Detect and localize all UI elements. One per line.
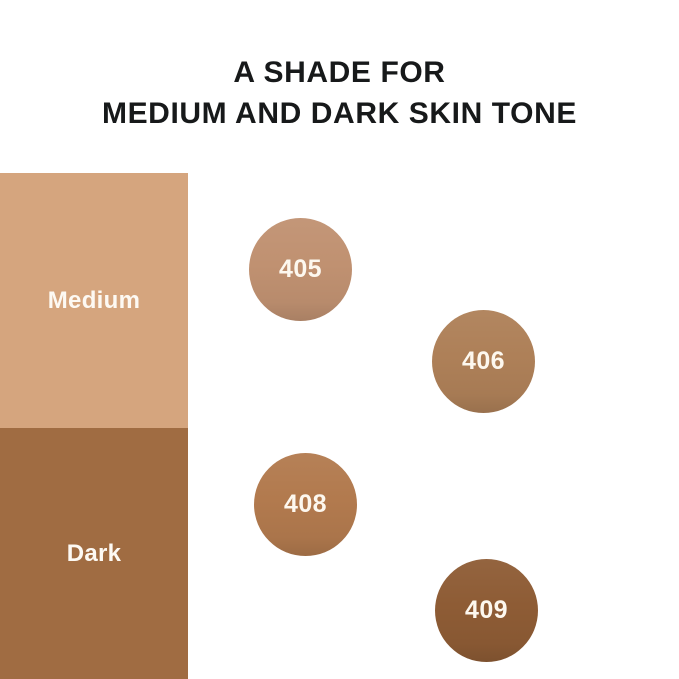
- shade-swatch-409[interactable]: 409: [435, 559, 538, 662]
- tone-panel-medium: Medium: [0, 173, 188, 428]
- tone-panel-medium-label: Medium: [48, 287, 140, 315]
- tone-panel-dark-label: Dark: [67, 540, 122, 568]
- shade-swatch-406[interactable]: 406: [432, 310, 535, 413]
- page-title: A SHADE FOR MEDIUM AND DARK SKIN TONE: [0, 52, 679, 134]
- page-title-line-1: A SHADE FOR: [0, 52, 679, 93]
- shade-chart-canvas: A SHADE FOR MEDIUM AND DARK SKIN TONE Me…: [0, 0, 679, 679]
- shade-swatch-405-label: 405: [279, 255, 322, 284]
- shade-swatch-409-label: 409: [465, 596, 508, 625]
- shade-swatch-406-label: 406: [462, 347, 505, 376]
- shade-swatch-405[interactable]: 405: [249, 218, 352, 321]
- page-title-line-2: MEDIUM AND DARK SKIN TONE: [0, 93, 679, 134]
- tone-panel-dark: Dark: [0, 428, 188, 679]
- shade-swatch-408[interactable]: 408: [254, 453, 357, 556]
- shade-swatch-408-label: 408: [284, 490, 327, 519]
